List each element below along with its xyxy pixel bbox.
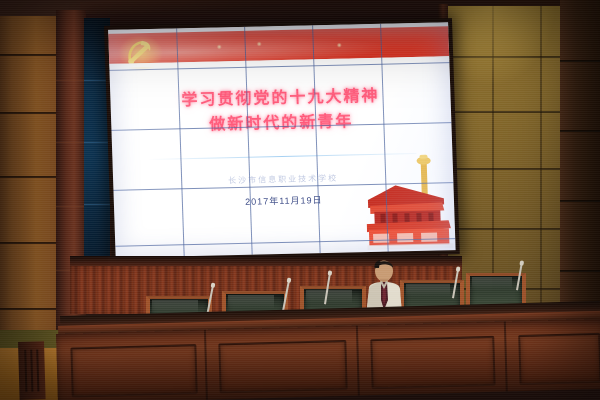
chair-5[interactable]: [466, 273, 518, 304]
right-wall-highlight: [446, 6, 556, 86]
screenshot-root: 学习贯彻党的十九大精神 做新时代的新青年 长沙市信息职业技术学校 2017年11…: [0, 0, 600, 400]
slide-surface: 学习贯彻党的十九大精神 做新时代的新青年 长沙市信息职业技术学校 2017年11…: [108, 22, 455, 258]
dais-front: [56, 319, 600, 400]
left-wall-panels: [0, 16, 60, 366]
tiananmen-gate-illustration: [364, 152, 453, 250]
dais-left-return: [18, 341, 46, 400]
slide-title-block: 学习贯彻党的十九大精神 做新时代的新青年: [110, 82, 452, 140]
communist-party-hammer-sickle-emblem: [124, 39, 155, 66]
led-video-wall[interactable]: 学习贯彻党的十九大精神 做新时代的新青年 长沙市信息职业技术学校 2017年11…: [104, 18, 460, 262]
